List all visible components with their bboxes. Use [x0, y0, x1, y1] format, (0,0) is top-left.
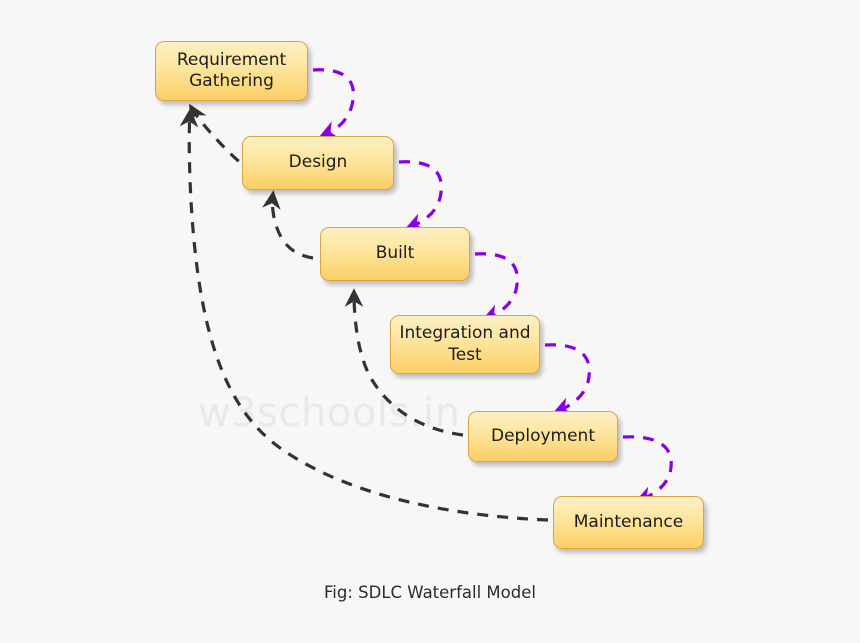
node-deployment[interactable]: Deployment — [468, 411, 618, 462]
node-label: Integration and Test — [393, 323, 536, 366]
edge-integration-to-deployment — [545, 345, 589, 412]
node-requirement-gathering[interactable]: Requirement Gathering — [155, 41, 308, 101]
node-built[interactable]: Built — [320, 227, 470, 281]
edge-deployment-to-maintenance — [623, 437, 671, 501]
node-maintenance[interactable]: Maintenance — [553, 496, 704, 549]
node-label: Design — [283, 152, 354, 173]
node-label: Built — [370, 243, 421, 264]
edge-built-to-integration — [475, 254, 517, 319]
edge-requirement-to-design — [313, 70, 353, 136]
diagram-canvas: w3schools.in Requirement GatheringDesign… — [0, 0, 860, 643]
edge-built-to-design — [272, 194, 313, 258]
node-integration-and-test[interactable]: Integration and Test — [390, 315, 540, 374]
figure-caption: Fig: SDLC Waterfall Model — [0, 583, 860, 602]
edge-design-to-built — [399, 162, 441, 228]
node-design[interactable]: Design — [242, 136, 394, 190]
node-label: Maintenance — [568, 512, 689, 533]
node-label: Requirement Gathering — [171, 50, 292, 93]
node-label: Deployment — [485, 426, 601, 447]
